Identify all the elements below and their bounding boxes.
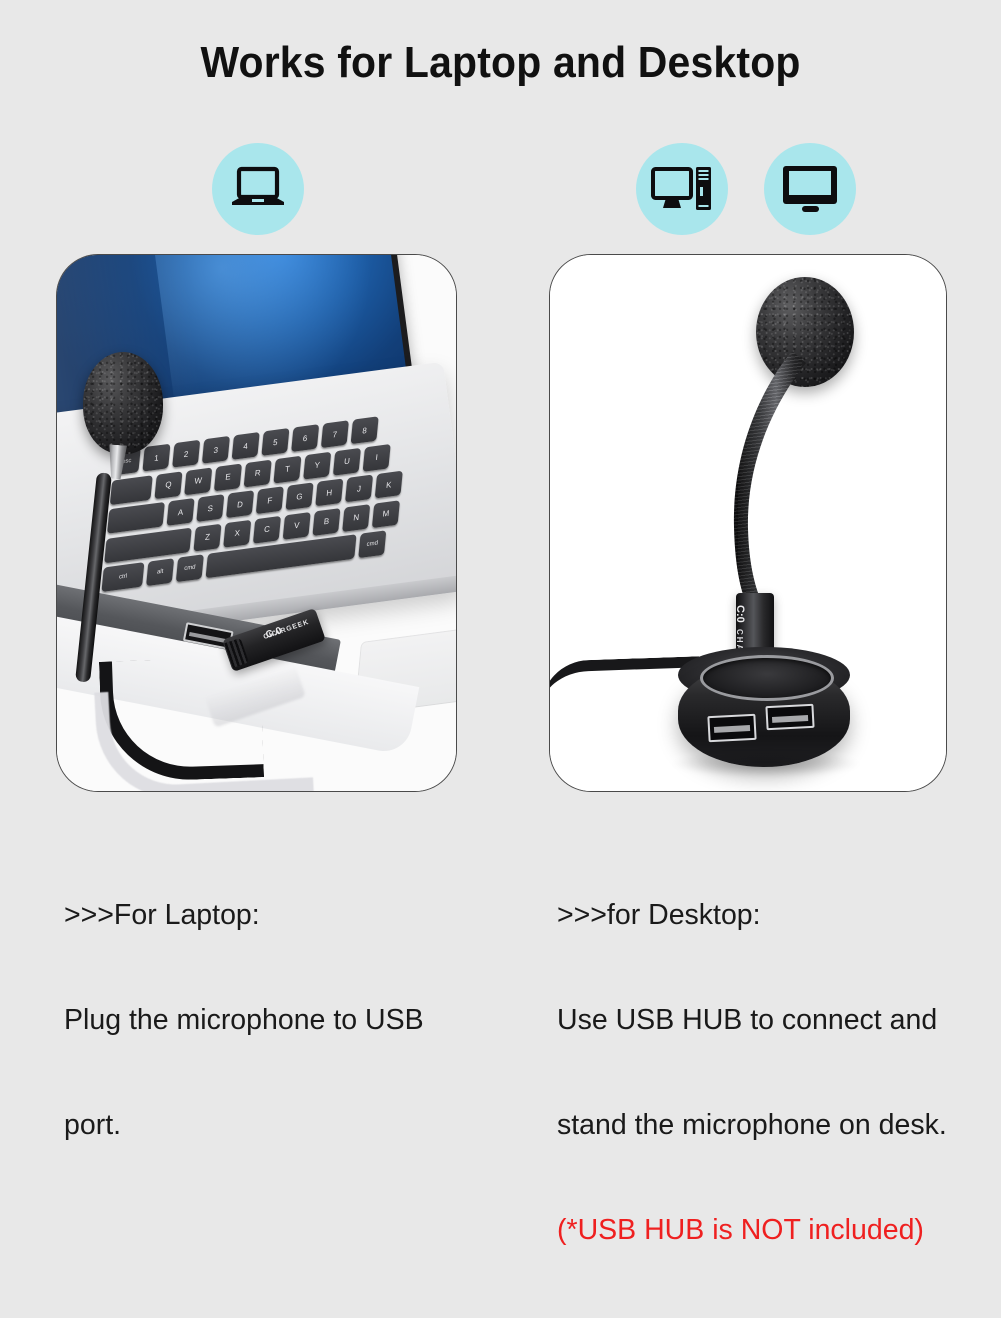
desktop-caption: >>>for Desktop: Use USB HUB to connect a… — [557, 828, 977, 1318]
key: D — [226, 490, 254, 518]
hub-shadow — [670, 751, 862, 777]
key: F — [256, 486, 284, 514]
key: cmd — [176, 554, 204, 582]
key: B — [312, 508, 340, 536]
key: J — [345, 475, 373, 503]
key — [110, 475, 153, 505]
usb-hub-port — [707, 714, 756, 742]
desktop-caption-heading: >>>for Desktop: — [557, 898, 977, 933]
key: 4 — [232, 432, 260, 460]
key: K — [375, 471, 403, 499]
key: 8 — [351, 416, 379, 444]
key: cmd — [358, 530, 386, 558]
laptop-icon — [230, 166, 286, 212]
key: Z — [193, 523, 221, 551]
desktop-caption-note: (*USB HUB is NOT included) — [557, 1213, 977, 1248]
gooseneck-texture — [726, 351, 802, 607]
desktop-tower-icon-badge — [636, 143, 728, 235]
laptop-icon-badge — [212, 143, 304, 235]
microphone-foam-head — [756, 277, 854, 387]
key: V — [283, 511, 311, 539]
key: 2 — [172, 440, 200, 468]
key — [107, 502, 165, 534]
key: E — [214, 463, 242, 491]
key: W — [184, 467, 212, 495]
monitor-icon-badge — [764, 143, 856, 235]
key: I — [363, 443, 391, 471]
key: 1 — [142, 444, 170, 472]
desktop-photo-panel: C:0 CHARGEEK — [549, 254, 947, 792]
monitor-icon — [780, 164, 840, 214]
key: A — [167, 498, 195, 526]
key: ctrl — [101, 562, 144, 592]
key: N — [342, 504, 370, 532]
key: 6 — [291, 424, 319, 452]
desktop-scene: C:0 CHARGEEK — [550, 255, 946, 791]
laptop-photo-panel: esc 1 2 3 4 5 6 7 8 Q W E R T Y — [56, 254, 457, 792]
page-title: Works for Laptop and Desktop — [35, 38, 966, 88]
key: R — [244, 459, 272, 487]
key: G — [285, 482, 313, 510]
laptop-caption-line1: Plug the microphone to USB — [64, 1003, 484, 1038]
key: C — [253, 515, 281, 543]
key: Y — [303, 451, 331, 479]
key: alt — [146, 558, 174, 586]
desktop-caption-line1: Use USB HUB to connect and — [557, 1003, 977, 1038]
desktop-caption-line2: stand the microphone on desk. — [557, 1108, 977, 1143]
key: 5 — [261, 428, 289, 456]
key: M — [372, 500, 400, 528]
laptop-scene: esc 1 2 3 4 5 6 7 8 Q W E R T Y — [57, 255, 456, 791]
key: H — [315, 478, 343, 506]
desktop-tower-icon — [651, 165, 713, 213]
key: U — [333, 447, 361, 475]
usb-hub-port — [765, 704, 814, 730]
laptop-caption-line2: port. — [64, 1108, 484, 1143]
infographic-page: Works for Laptop and Desktop — [0, 0, 1001, 1001]
key: 3 — [202, 436, 230, 464]
microphone-foam-head — [83, 352, 163, 454]
key: S — [196, 494, 224, 522]
key: X — [223, 519, 251, 547]
usb-hub-center-ring — [700, 655, 834, 701]
key: 7 — [321, 420, 349, 448]
laptop-caption: >>>For Laptop: Plug the microphone to US… — [64, 828, 484, 1213]
brand-logo-icon: C:0 — [736, 605, 746, 623]
key: Q — [154, 471, 182, 499]
laptop-caption-heading: >>>For Laptop: — [64, 898, 484, 933]
key: T — [273, 455, 301, 483]
